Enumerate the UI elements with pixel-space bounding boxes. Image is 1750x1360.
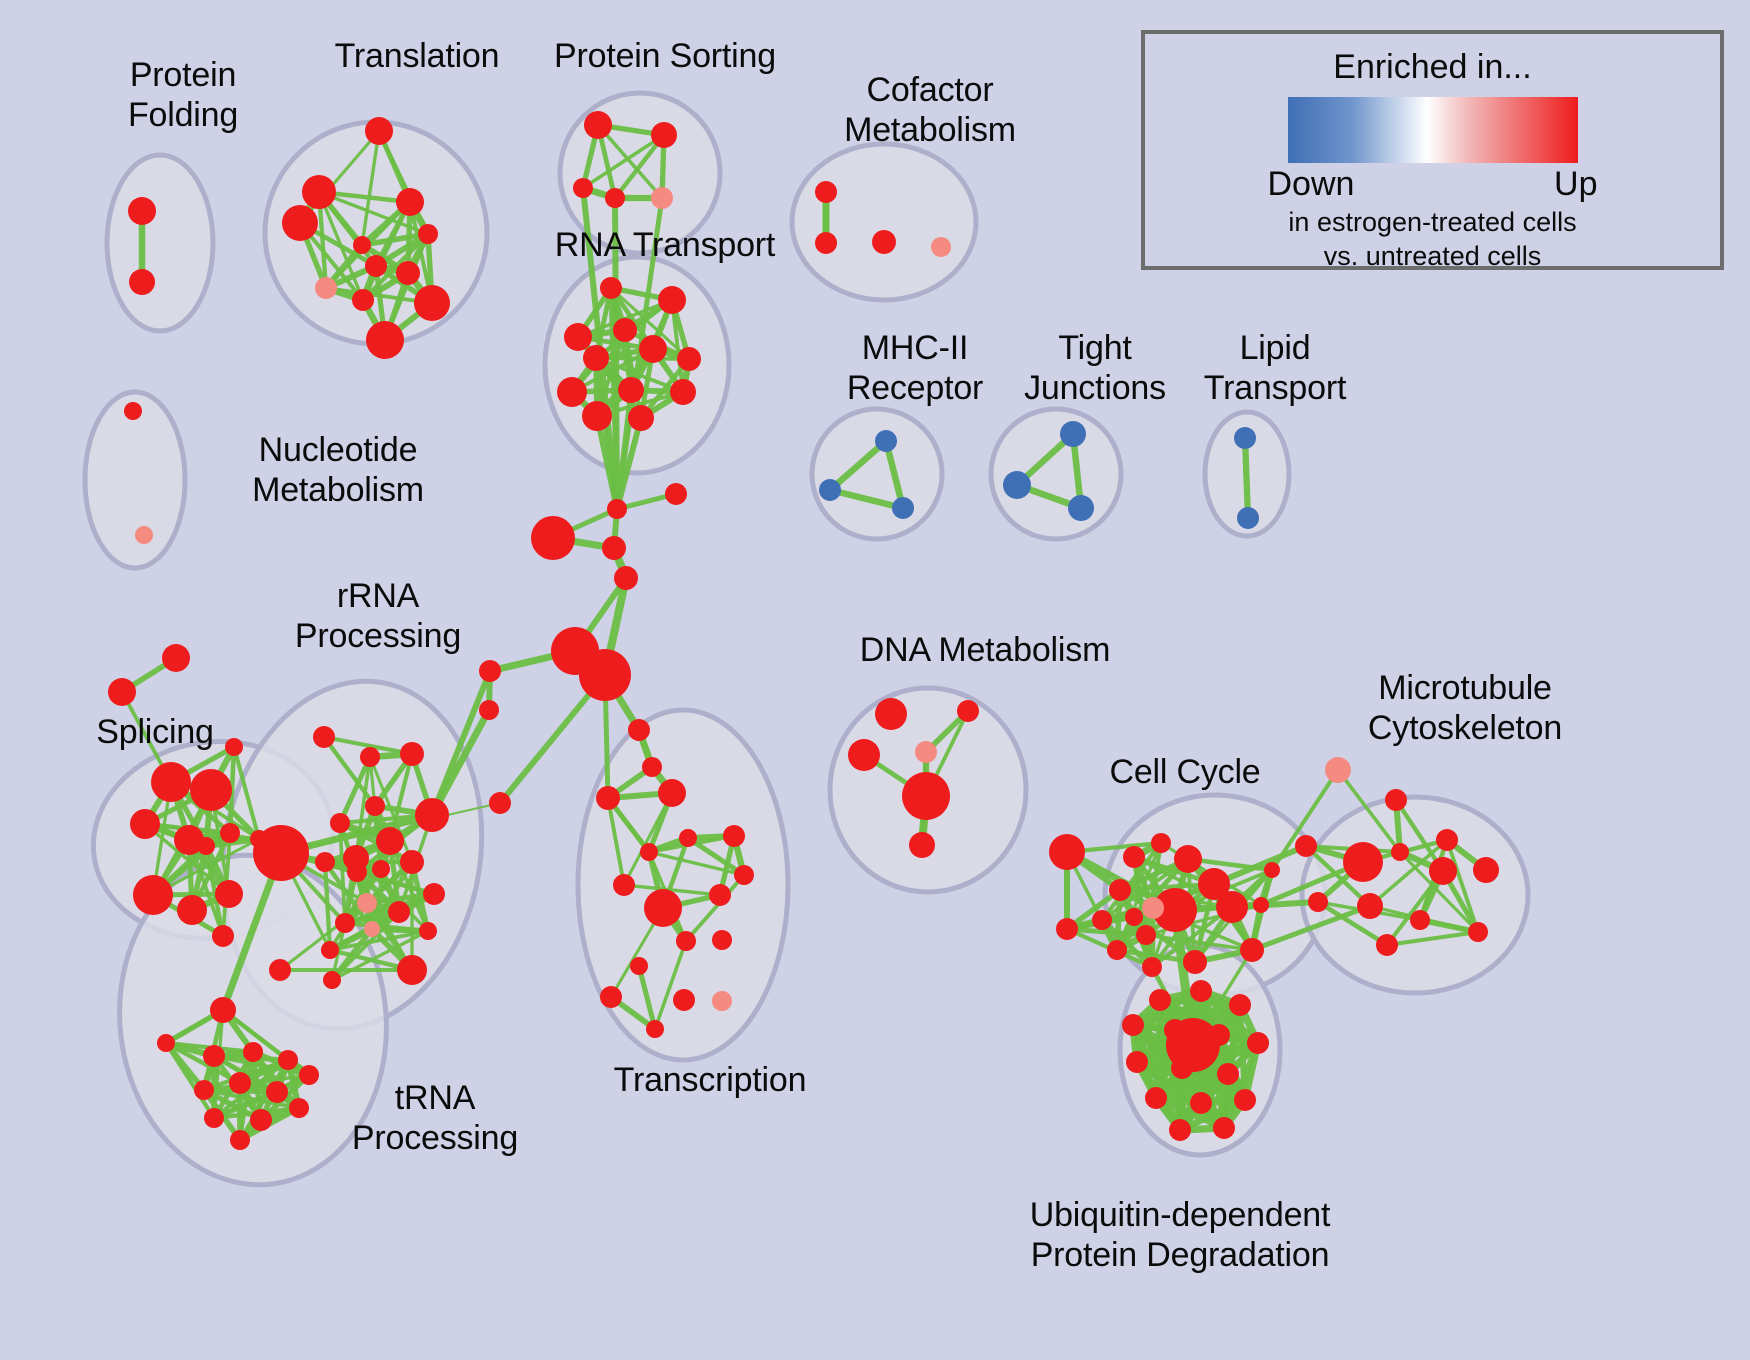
network-node[interactable] [1125, 908, 1143, 926]
network-node[interactable] [397, 955, 427, 985]
network-node[interactable] [1183, 950, 1207, 974]
network-node[interactable] [302, 175, 336, 209]
network-node[interactable] [564, 323, 592, 351]
network-node[interactable] [372, 860, 390, 878]
network-node[interactable] [253, 825, 309, 881]
network-node[interactable] [400, 742, 424, 766]
network-node[interactable] [573, 178, 593, 198]
network-node[interactable] [400, 850, 424, 874]
network-node[interactable] [670, 379, 696, 405]
network-node[interactable] [600, 986, 622, 1008]
network-node[interactable] [1253, 897, 1269, 913]
network-node[interactable] [618, 377, 644, 403]
network-node[interactable] [1264, 862, 1280, 878]
network-node[interactable] [915, 741, 937, 763]
network-node[interactable] [1234, 1089, 1256, 1111]
cluster-label-rrna-processing: rRNA Processing [243, 576, 513, 656]
network-node[interactable] [557, 377, 587, 407]
network-node[interactable] [1391, 843, 1409, 861]
network-node[interactable] [130, 809, 160, 839]
network-node[interactable] [479, 660, 501, 682]
network-node[interactable] [1171, 1057, 1193, 1079]
network-node[interactable] [584, 111, 612, 139]
network-node[interactable] [1213, 1117, 1235, 1139]
network-node[interactable] [1343, 842, 1383, 882]
network-node[interactable] [330, 813, 350, 833]
network-node[interactable] [313, 726, 335, 748]
cluster-label-cofactor-metabolism: Cofactor Metabolism [790, 70, 1070, 150]
network-node[interactable] [613, 318, 637, 342]
network-node[interactable] [605, 188, 625, 208]
network-node[interactable] [489, 792, 511, 814]
network-node[interactable] [1003, 471, 1031, 499]
network-node[interactable] [1190, 980, 1212, 1002]
cluster-label-rna-transport: RNA Transport [500, 225, 830, 265]
network-node[interactable] [323, 971, 341, 989]
network-node[interactable] [646, 1020, 664, 1038]
network-node[interactable] [665, 483, 687, 505]
network-node[interactable] [734, 865, 754, 885]
network-node[interactable] [1216, 891, 1248, 923]
cluster-label-nucleotide-metabolism: Nucleotide Metabolism [198, 430, 478, 510]
network-node[interactable] [909, 832, 935, 858]
network-node[interactable] [1308, 892, 1328, 912]
network-node[interactable] [250, 1109, 272, 1131]
network-node[interactable] [723, 825, 745, 847]
network-node[interactable] [352, 289, 374, 311]
network-node[interactable] [815, 181, 837, 203]
network-node[interactable] [819, 479, 841, 501]
network-node[interactable] [1049, 834, 1085, 870]
network-node[interactable] [583, 345, 609, 371]
network-node[interactable] [335, 913, 355, 933]
network-node[interactable] [190, 769, 232, 811]
legend-caption-line1: in estrogen-treated cells [1145, 206, 1720, 238]
network-node[interactable] [215, 880, 243, 908]
network-node[interactable] [129, 269, 155, 295]
network-node[interactable] [531, 516, 575, 560]
network-node[interactable] [1174, 845, 1202, 873]
network-node[interactable] [673, 989, 695, 1011]
network-node[interactable] [133, 875, 173, 915]
network-node[interactable] [1145, 1087, 1167, 1109]
network-edge [1245, 438, 1248, 518]
network-node[interactable] [644, 889, 682, 927]
network-node[interactable] [676, 931, 696, 951]
network-node[interactable] [1229, 994, 1251, 1016]
network-node[interactable] [177, 895, 207, 925]
network-node[interactable] [1208, 1024, 1230, 1046]
enrichment-network-figure: Protein FoldingTranslationNucleotide Met… [0, 0, 1750, 1360]
network-node[interactable] [360, 747, 380, 767]
network-node[interactable] [872, 230, 896, 254]
legend-box: Enriched in... Down Up in estrogen-treat… [1141, 30, 1724, 270]
network-node[interactable] [582, 401, 612, 431]
network-node[interactable] [1107, 940, 1127, 960]
cluster-label-protein-sorting: Protein Sorting [500, 36, 830, 76]
network-node[interactable] [1217, 1063, 1239, 1085]
network-node[interactable] [204, 1108, 224, 1128]
network-node[interactable] [1247, 1032, 1269, 1054]
network-node[interactable] [128, 197, 156, 225]
network-node[interactable] [613, 874, 635, 896]
network-node[interactable] [1060, 421, 1086, 447]
network-node[interactable] [396, 261, 420, 285]
network-node[interactable] [479, 700, 499, 720]
network-node[interactable] [1151, 833, 1171, 853]
network-node[interactable] [162, 644, 190, 672]
network-node[interactable] [1164, 1019, 1186, 1041]
network-node[interactable] [364, 921, 380, 937]
cluster-label-trna-processing: tRNA Processing [300, 1078, 570, 1158]
network-node[interactable] [931, 237, 951, 257]
network-node[interactable] [365, 255, 387, 277]
network-node[interactable] [376, 827, 404, 855]
legend-endpoints: Down Up [1268, 165, 1598, 204]
network-node[interactable] [712, 991, 732, 1011]
network-node[interactable] [600, 277, 622, 299]
cluster-hull-cofactor-metabolism [792, 144, 976, 300]
network-node[interactable] [347, 862, 367, 882]
legend-caption-line2: vs. untreated cells [1145, 240, 1720, 272]
network-node[interactable] [642, 757, 662, 777]
network-node[interactable] [875, 698, 907, 730]
network-node[interactable] [396, 188, 424, 216]
network-node[interactable] [151, 762, 191, 802]
network-node[interactable] [658, 779, 686, 807]
network-node[interactable] [423, 883, 445, 905]
network-node[interactable] [278, 1050, 298, 1070]
network-node[interactable] [197, 837, 215, 855]
network-node[interactable] [210, 997, 236, 1023]
network-node[interactable] [1410, 910, 1430, 930]
network-node[interactable] [414, 285, 450, 321]
network-node[interactable] [194, 1080, 214, 1100]
network-node[interactable] [1068, 495, 1094, 521]
network-node[interactable] [315, 277, 337, 299]
network-node[interactable] [1142, 957, 1162, 977]
network-node[interactable] [220, 823, 240, 843]
network-node[interactable] [1092, 910, 1112, 930]
network-node[interactable] [902, 772, 950, 820]
network-node[interactable] [957, 700, 979, 722]
network-node[interactable] [1136, 925, 1156, 945]
network-node[interactable] [415, 798, 449, 832]
network-node[interactable] [229, 1072, 251, 1094]
network-node[interactable] [1325, 757, 1351, 783]
network-node[interactable] [418, 224, 438, 244]
network-node[interactable] [315, 852, 335, 872]
network-node[interactable] [1240, 938, 1264, 962]
network-node[interactable] [321, 941, 339, 959]
network-node[interactable] [848, 739, 880, 771]
network-node[interactable] [630, 957, 648, 975]
network-node[interactable] [1234, 427, 1256, 449]
legend-low-label: Down [1268, 165, 1355, 204]
network-node[interactable] [1436, 829, 1458, 851]
network-node[interactable] [1149, 989, 1171, 1011]
network-node[interactable] [1295, 835, 1317, 857]
network-node[interactable] [135, 526, 153, 544]
network-node[interactable] [1169, 1119, 1191, 1141]
network-node[interactable] [266, 1081, 288, 1103]
network-node[interactable] [1109, 879, 1131, 901]
cluster-label-splicing: Splicing [45, 712, 265, 752]
network-node[interactable] [614, 566, 638, 590]
network-node[interactable] [651, 187, 673, 209]
network-node[interactable] [357, 893, 377, 913]
network-node[interactable] [677, 347, 701, 371]
cluster-label-cell-cycle: Cell Cycle [1050, 752, 1320, 792]
network-node[interactable] [388, 901, 410, 923]
network-node[interactable] [108, 678, 136, 706]
network-node[interactable] [1123, 846, 1145, 868]
cluster-label-protein-folding: Protein Folding [78, 55, 288, 135]
network-node[interactable] [892, 497, 914, 519]
legend-color-bar [1288, 97, 1578, 163]
network-node[interactable] [712, 930, 732, 950]
network-node[interactable] [212, 925, 234, 947]
network-node[interactable] [1126, 1051, 1148, 1073]
network-node[interactable] [1142, 897, 1164, 919]
network-node[interactable] [628, 405, 654, 431]
network-node[interactable] [1473, 857, 1499, 883]
network-node[interactable] [875, 430, 897, 452]
network-node[interactable] [230, 1130, 250, 1150]
network-node[interactable] [579, 649, 631, 701]
network-node[interactable] [366, 321, 404, 359]
network-node[interactable] [1056, 918, 1078, 940]
network-node[interactable] [365, 796, 385, 816]
network-node[interactable] [602, 536, 626, 560]
network-node[interactable] [282, 205, 318, 241]
network-node[interactable] [1357, 893, 1383, 919]
cluster-hull-mhc-ii-receptor [812, 409, 942, 539]
legend-title: Enriched in... [1145, 48, 1720, 87]
network-node[interactable] [1468, 922, 1488, 942]
network-node[interactable] [1429, 857, 1457, 885]
network-node[interactable] [269, 959, 291, 981]
cluster-label-lipid-transport: Lipid Transport [1150, 328, 1400, 408]
cluster-label-microtubule-cytoskeleton: Microtubule Cytoskeleton [1300, 668, 1630, 748]
cluster-label-ubiquitin-protein-degradation: Ubiquitin-dependent Protein Degradation [980, 1195, 1380, 1275]
network-node[interactable] [607, 499, 627, 519]
network-node[interactable] [639, 335, 667, 363]
legend-high-label: Up [1554, 165, 1597, 204]
network-node[interactable] [640, 843, 658, 861]
network-node[interactable] [365, 117, 393, 145]
network-node[interactable] [353, 236, 371, 254]
network-node[interactable] [203, 1045, 225, 1067]
network-node[interactable] [419, 922, 437, 940]
network-node[interactable] [1376, 934, 1398, 956]
network-node[interactable] [124, 402, 142, 420]
network-node[interactable] [1385, 789, 1407, 811]
network-node[interactable] [1190, 1092, 1212, 1114]
network-node[interactable] [1122, 1014, 1144, 1036]
network-node[interactable] [596, 786, 620, 810]
cluster-hull-protein-folding [107, 155, 213, 331]
network-node[interactable] [658, 286, 686, 314]
network-node[interactable] [679, 829, 697, 847]
cluster-label-dna-metabolism: DNA Metabolism [810, 630, 1160, 670]
cluster-label-transcription: Transcription [560, 1060, 860, 1100]
network-node[interactable] [157, 1034, 175, 1052]
network-node[interactable] [709, 884, 731, 906]
network-node[interactable] [628, 719, 650, 741]
network-node[interactable] [651, 122, 677, 148]
network-node[interactable] [243, 1042, 263, 1062]
network-node[interactable] [1237, 507, 1259, 529]
